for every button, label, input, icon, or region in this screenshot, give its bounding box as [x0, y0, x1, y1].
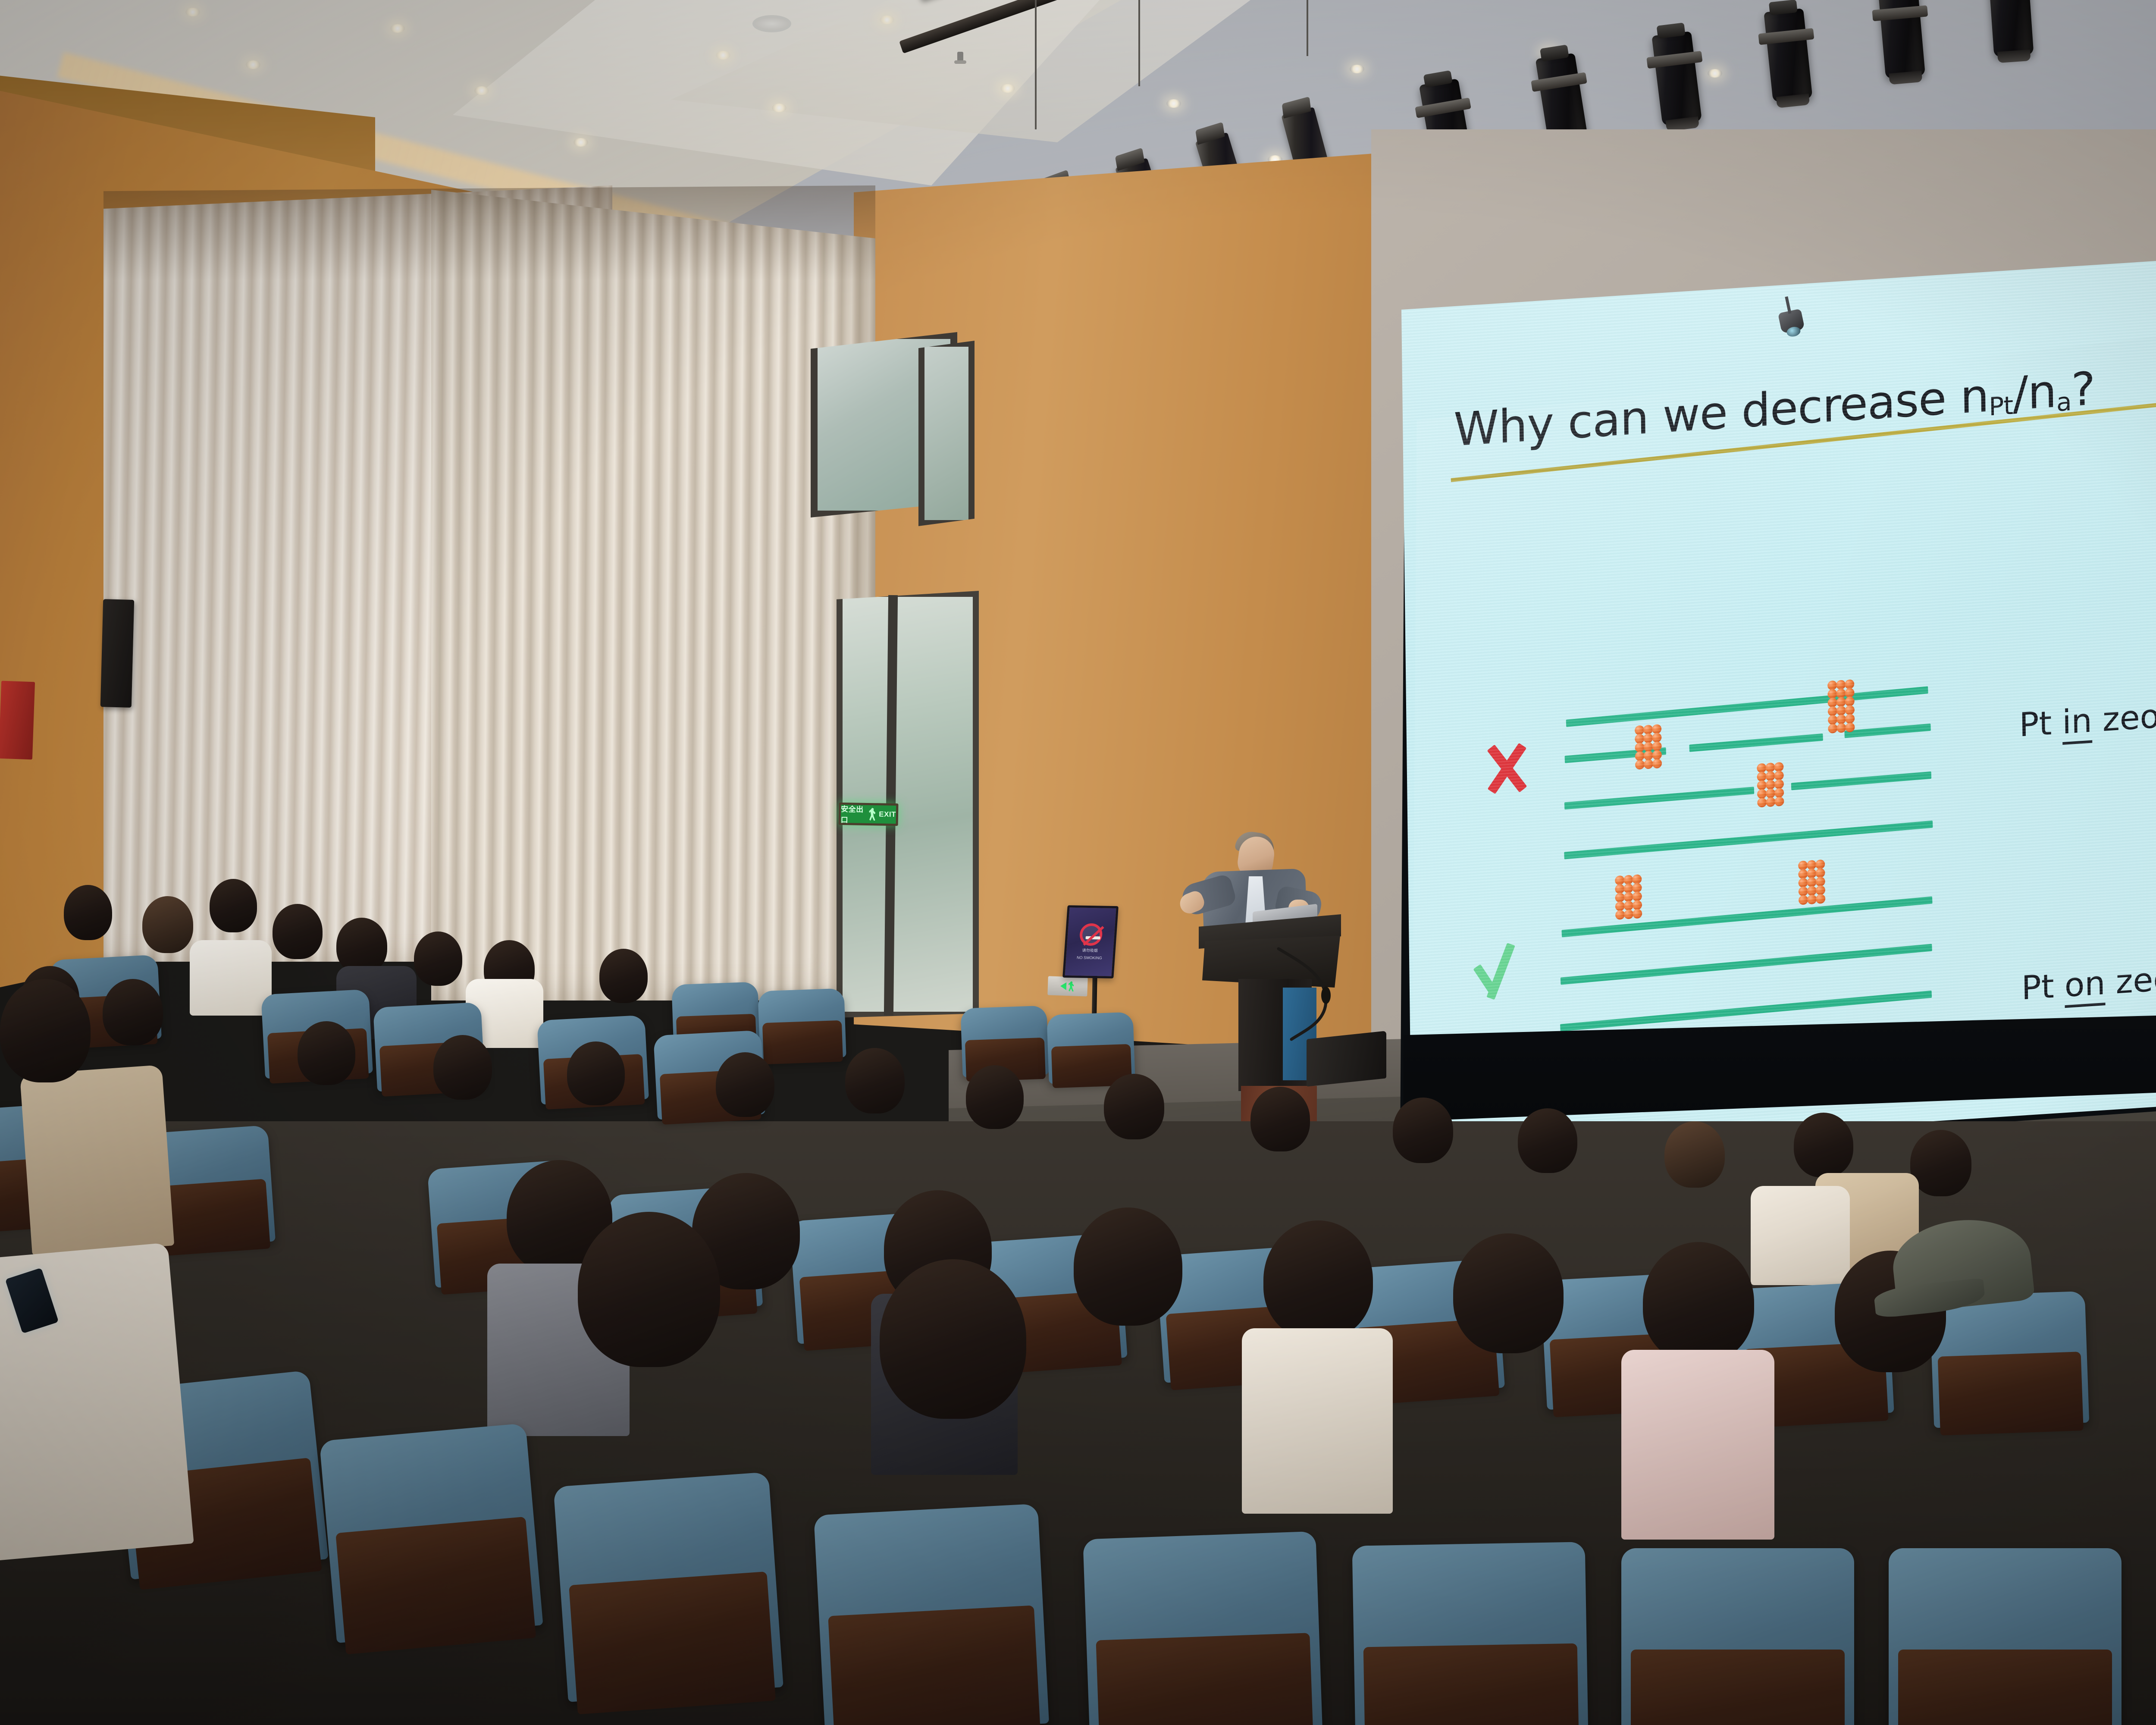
floor-exit-lamp	[1047, 976, 1087, 996]
downlight	[246, 60, 260, 69]
slide-title-main: Why can we decrease n	[1454, 369, 1989, 456]
audience-head	[567, 1041, 625, 1105]
exit-sign-label-cn: 安全出口	[841, 803, 867, 825]
zeolite-line	[1844, 724, 1930, 738]
notice-sign-line1: 请勿吸烟	[1082, 948, 1098, 953]
audience-body	[190, 940, 272, 1016]
seat[interactable]	[960, 1006, 1049, 1078]
fire-equipment-box	[0, 681, 35, 760]
audience-head	[0, 979, 91, 1082]
stage-curtain-right	[431, 190, 875, 1000]
notice-sign-board: 请勿吸烟 NO SMOKING	[1062, 905, 1119, 979]
audience-head	[716, 1052, 774, 1117]
downlight	[1708, 69, 1722, 78]
audience-head	[1104, 1074, 1164, 1139]
audience-head	[880, 1259, 1026, 1419]
exit-sign: 安全出口 EXIT	[839, 803, 899, 826]
label-prefix: Pt	[2019, 703, 2062, 744]
downlight	[1166, 99, 1181, 108]
platinum-cluster	[1757, 762, 1783, 807]
stage-light	[1988, 0, 2034, 57]
clerestory-window	[918, 341, 975, 526]
no-smoking-icon	[1079, 923, 1103, 946]
audience-head	[578, 1212, 720, 1367]
audience-head	[210, 879, 257, 932]
downlight	[880, 16, 894, 24]
audience-head	[1393, 1098, 1453, 1163]
green-check-mark	[1478, 940, 1536, 1000]
seat[interactable]	[1621, 1548, 1854, 1725]
audience-head	[64, 885, 112, 940]
exit-sign-label-en: EXIT	[879, 810, 896, 819]
audience-head	[142, 896, 193, 953]
seat[interactable]	[553, 1472, 783, 1702]
downlight	[1350, 65, 1364, 73]
audience-head	[1250, 1087, 1310, 1151]
audience-head	[1518, 1108, 1577, 1173]
audience-head	[414, 931, 462, 986]
audience-head	[1794, 1113, 1853, 1177]
slide-title-mid: /n	[2012, 364, 2056, 420]
audience-head	[1453, 1233, 1564, 1353]
audience-body	[1621, 1350, 1774, 1540]
downlight	[573, 138, 588, 147]
audience-head	[599, 949, 648, 1003]
label-suffix: zeolite crystals	[2105, 947, 2156, 1002]
stage-light	[1878, 0, 1925, 79]
audience-head	[966, 1065, 1024, 1129]
wall-mounted-speaker	[100, 599, 135, 708]
audience-body	[1242, 1328, 1393, 1514]
audience-head	[1263, 1220, 1373, 1339]
auditorium-scene: 安全出口 EXIT 请勿吸烟 NO SMOKING	[0, 0, 2156, 1725]
notice-sign-line2: NO SMOKING	[1077, 955, 1102, 960]
zeolite-line	[1791, 772, 1931, 790]
audience-head	[845, 1048, 905, 1113]
running-man-icon	[868, 808, 877, 821]
stage-monitor-speaker	[1307, 1031, 1386, 1086]
label-emphasis: on	[2064, 963, 2106, 1008]
truss-hanger-wire	[1138, 0, 1140, 86]
running-man-icon	[1068, 981, 1075, 992]
zeolite-line	[1564, 821, 1933, 859]
seat[interactable]	[1352, 1542, 1589, 1725]
projected-slide-warp: Utrecht University Why can we decrease n…	[1401, 233, 2156, 1155]
label-suffix: zeolite crystals	[2092, 684, 2156, 739]
audience-body	[20, 1065, 174, 1255]
downlight	[716, 51, 730, 60]
audience-head	[1643, 1242, 1754, 1363]
downlight	[474, 86, 489, 95]
curtain-top-shadow	[103, 185, 875, 280]
label-prefix: Pt	[2021, 966, 2065, 1007]
platinum-cluster	[1828, 680, 1854, 733]
zeolite-line	[1561, 944, 1932, 985]
truss-hanger-wire	[1035, 0, 1037, 129]
audience-head	[103, 979, 163, 1045]
presentation-slide: Utrecht University Why can we decrease n…	[1401, 233, 2156, 1155]
slide-title-end: ?	[2071, 362, 2096, 417]
audience-head	[1074, 1207, 1182, 1326]
audience-head	[1664, 1121, 1725, 1188]
zeolite-line	[1689, 734, 1823, 752]
platinum-cluster	[1615, 875, 1642, 919]
platinum-cluster	[1799, 860, 1825, 905]
slide-title: Why can we decrease nPt/na?	[1454, 362, 2096, 456]
label-pt-on-zeolite: Pt on zeolite crystals	[2021, 947, 2156, 1007]
downlight	[390, 24, 405, 33]
red-cross-mark	[1482, 741, 1531, 795]
seat[interactable]	[1047, 1012, 1135, 1084]
audience-head	[298, 1021, 355, 1085]
zeolite-line	[1566, 686, 1928, 727]
ceiling-vent	[752, 15, 791, 32]
truss-hanger-wire	[1307, 0, 1308, 56]
zeolite-line	[1564, 787, 1754, 809]
audience-head	[433, 1035, 492, 1100]
audience-head	[273, 904, 323, 959]
sprinkler-head	[957, 52, 963, 64]
audience-head	[336, 918, 387, 974]
label-pt-in-zeolite: Pt in zeolite crystals	[2019, 684, 2156, 744]
cigarette-shape	[1085, 936, 1100, 940]
downlight	[1000, 84, 1015, 93]
seat[interactable]	[319, 1423, 543, 1643]
slide-title-sub-pt: Pt	[1989, 391, 2013, 422]
arrow-left-icon	[1060, 982, 1067, 990]
audience-body	[1751, 1186, 1850, 1285]
seat[interactable]	[1930, 1291, 2089, 1428]
seat[interactable]	[814, 1504, 1049, 1725]
seat[interactable]	[758, 988, 846, 1060]
downlight	[772, 103, 787, 112]
downlight	[185, 8, 200, 16]
label-emphasis: in	[2062, 701, 2092, 745]
headset-microphone-cable	[1274, 944, 1339, 1044]
seat[interactable]	[1889, 1548, 2122, 1725]
seat[interactable]	[1083, 1531, 1323, 1725]
audience-head	[1910, 1130, 1971, 1196]
platinum-cluster	[1635, 724, 1661, 769]
